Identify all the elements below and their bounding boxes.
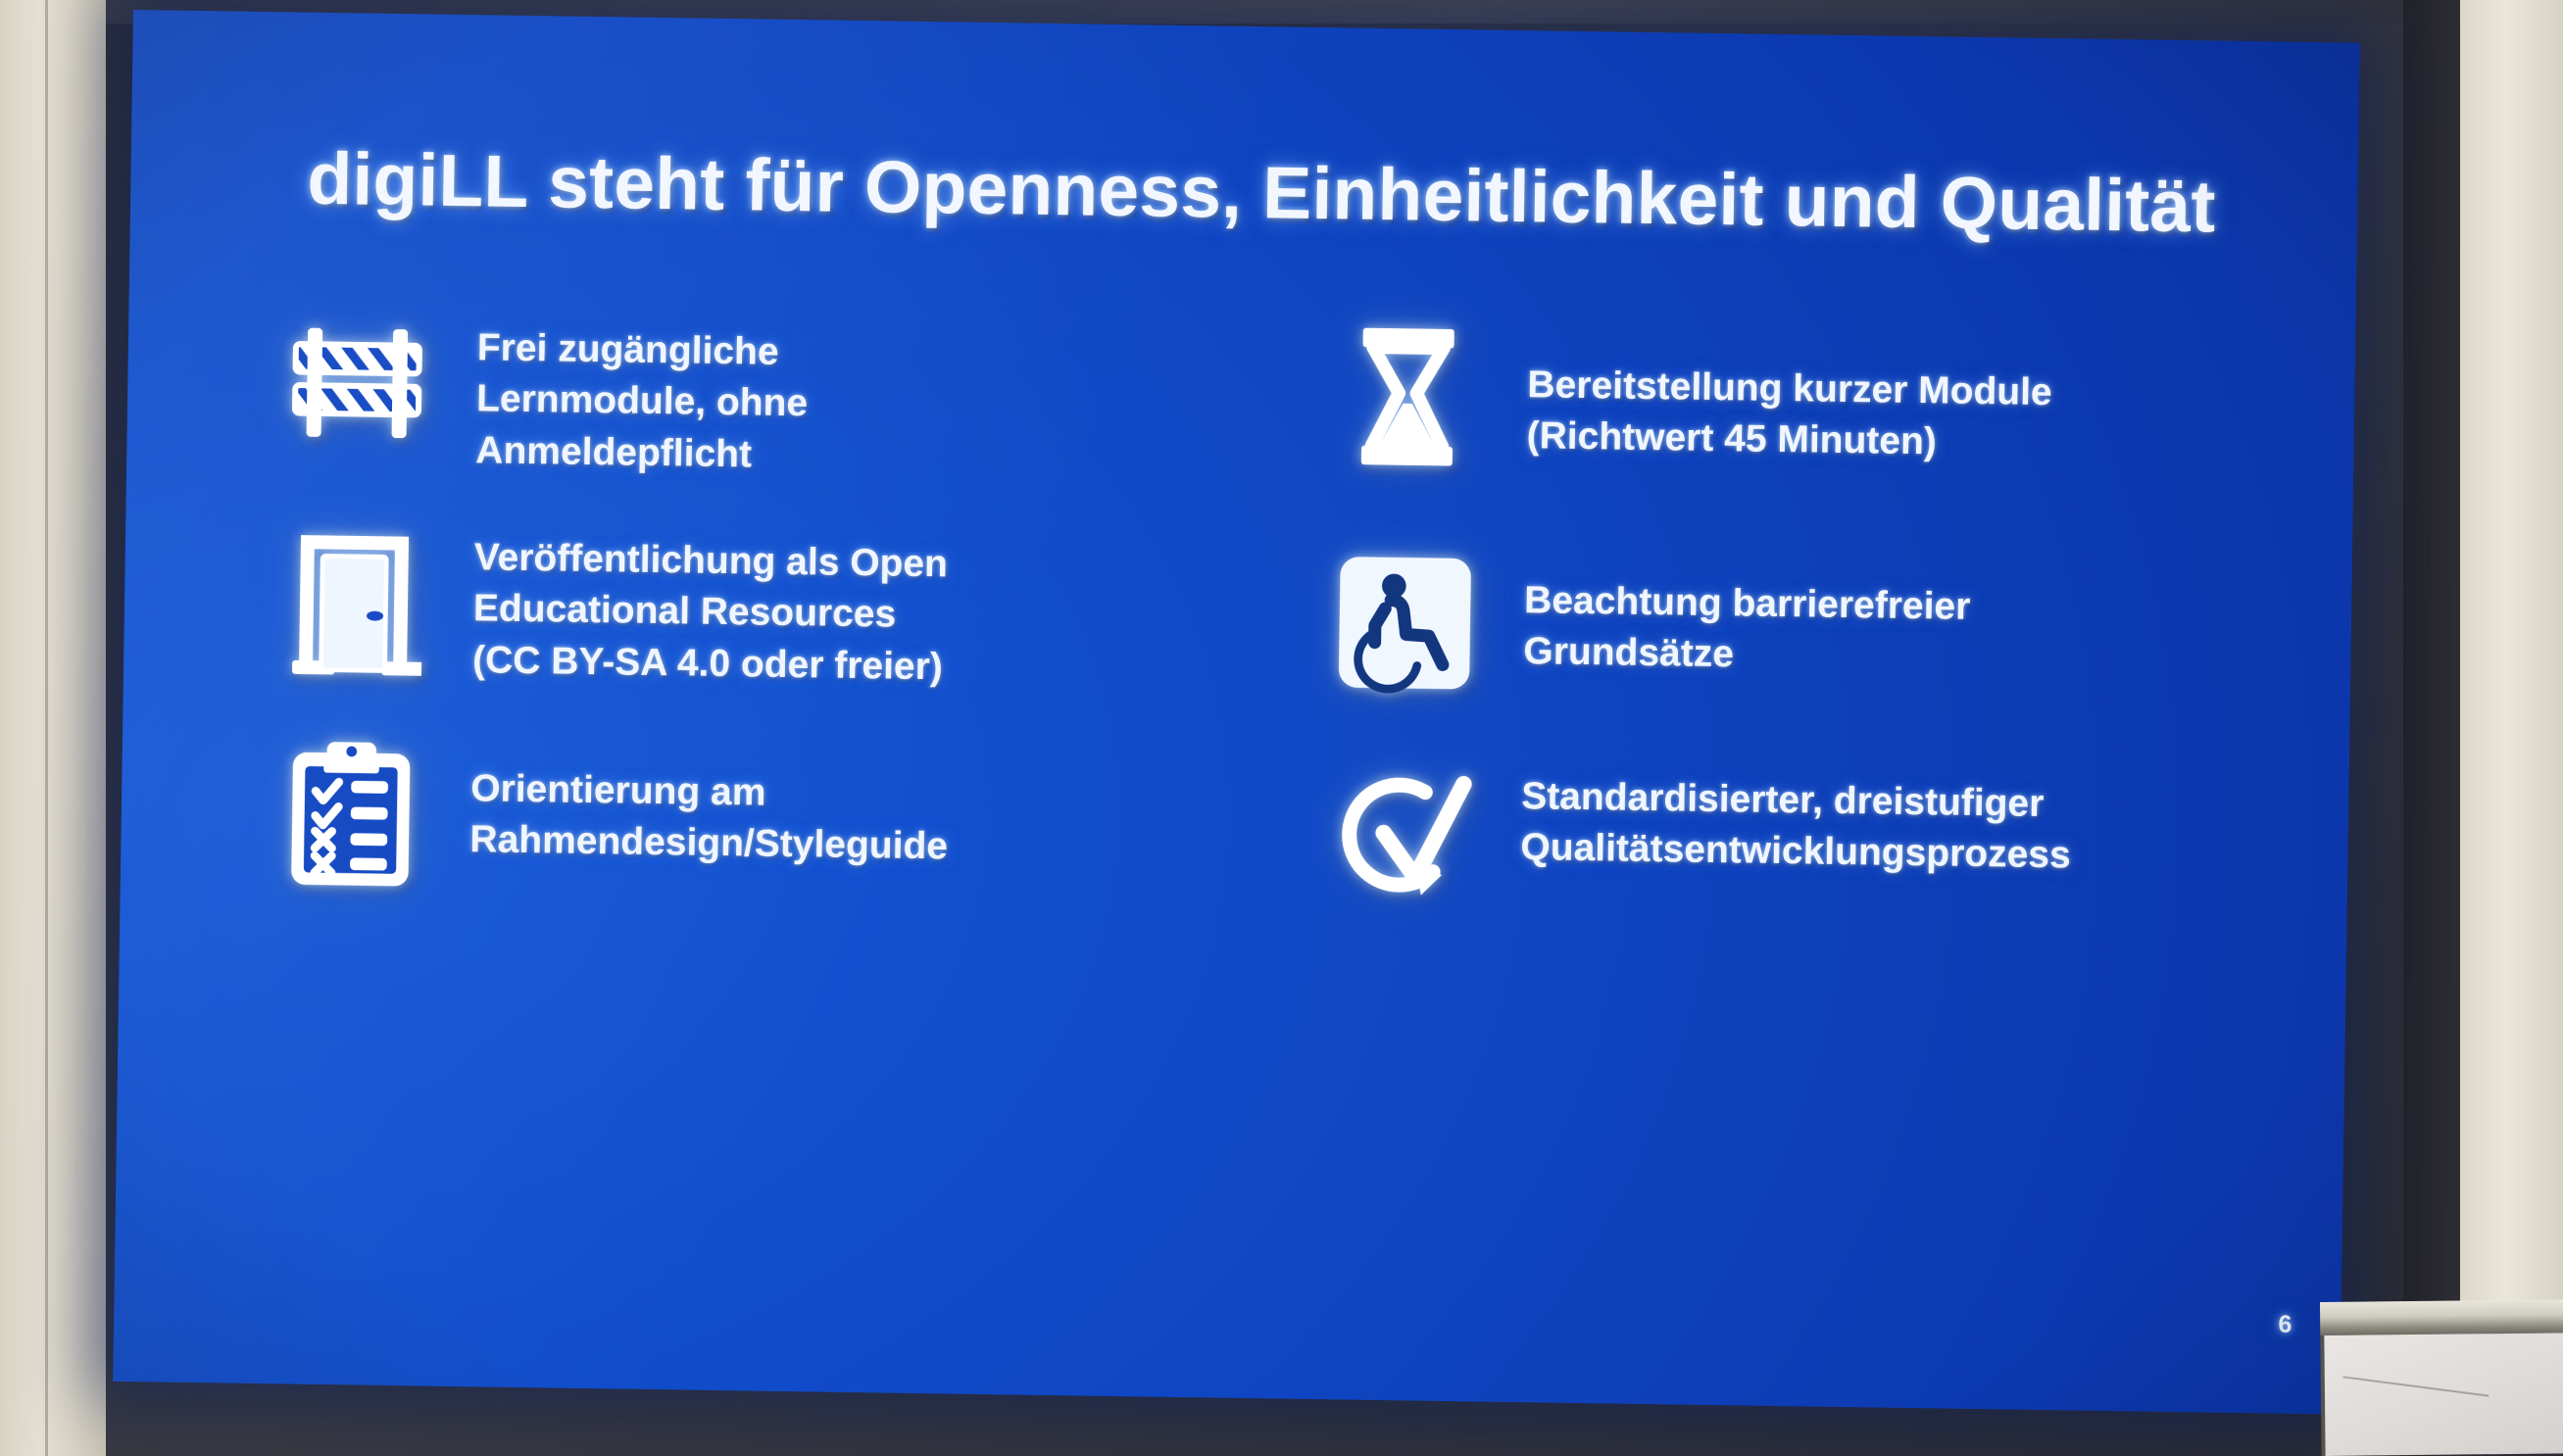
flipchart-board — [2320, 1299, 2563, 1456]
feature-line: Standardisierter, dreistufiger — [1521, 771, 2072, 831]
feature-item-orientierung-rahmendesign: Orientierung am Rahmendesign/Styleguide — [267, 743, 1212, 970]
feature-line: Anmeldepflicht — [475, 425, 808, 481]
slide-page-number: 6 — [2278, 1311, 2292, 1339]
feature-text: Frei zugängliche Lernmodule, ohne Anmeld… — [475, 322, 809, 481]
hourglass-icon — [1324, 310, 1491, 476]
feature-item-frei-zugaengliche-lernmodule: Frei zugängliche Lernmodule, ohne Anmeld… — [272, 315, 1218, 543]
projected-slide-wrapper: digiLL steht für Openness, Einheitlichke… — [113, 10, 2360, 1415]
feature-item-veroeffentlichung-als-oer: Veröffentlichung als Open Educational Re… — [270, 529, 1215, 756]
wheelchair-accessibility-icon — [1321, 539, 1488, 705]
feature-line: Frei zugängliche — [477, 322, 810, 378]
slide-title: digiLL steht für Openness, Einheitlichke… — [307, 140, 2248, 246]
feature-line: Veröffentlichung als Open — [473, 532, 948, 590]
feature-text: Bereitstellung kurzer Module (Richtwert … — [1526, 360, 2052, 469]
feature-line: Qualitätsentwicklungsprozess — [1520, 822, 2071, 882]
feature-line: (CC BY-SA 4.0 oder freier) — [472, 635, 947, 693]
feature-text: Standardisierter, dreistufiger Qualitäts… — [1520, 771, 2072, 882]
room-wall-right — [2460, 0, 2563, 1311]
feature-line: Orientierung am — [470, 763, 949, 821]
flipchart-rail — [2320, 1299, 2563, 1335]
flipchart-crease — [2342, 1376, 2489, 1396]
clipboard-checklist-icon — [268, 731, 434, 898]
feature-item-bereitstellung-kurzer-module: Bereitstellung kurzer Module (Richtwert … — [1300, 331, 2245, 558]
feature-grid: Frei zugängliche Lernmodule, ohne Anmeld… — [267, 315, 2245, 986]
feature-line: (Richtwert 45 Minuten) — [1526, 411, 2051, 469]
feature-text: Veröffentlichung als Open Educational Re… — [472, 532, 949, 693]
feature-line: Educational Resources — [473, 583, 948, 641]
photo-scene: digiLL steht für Openness, Einheitlichke… — [0, 0, 2563, 1456]
refresh-check-icon — [1317, 752, 1484, 919]
room-wall-left — [0, 0, 106, 1456]
feature-line: Lernmodule, ohne — [476, 373, 809, 429]
feature-item-qualitaetsentwicklungsprozess: Standardisierter, dreistufiger Qualitäts… — [1294, 758, 2240, 986]
feature-line: Beachtung barrierefreier — [1524, 575, 1971, 633]
feature-line: Grundsätze — [1523, 626, 1970, 684]
road-barrier-icon — [273, 298, 440, 464]
flipchart-paper — [2324, 1333, 2563, 1456]
screen-bezel-right — [2403, 0, 2460, 1311]
feature-text: Orientierung am Rahmendesign/Styleguide — [469, 763, 949, 873]
open-door-icon — [271, 519, 437, 686]
feature-line: Bereitstellung kurzer Module — [1527, 360, 2052, 418]
presentation-slide: digiLL steht für Openness, Einheitlichke… — [113, 10, 2360, 1415]
feature-item-barrierefreiheit: Beachtung barrierefreier Grundsätze — [1297, 545, 2243, 772]
feature-text: Beachtung barrierefreier Grundsätze — [1523, 575, 1971, 684]
feature-line: Rahmendesign/Styleguide — [469, 814, 948, 872]
